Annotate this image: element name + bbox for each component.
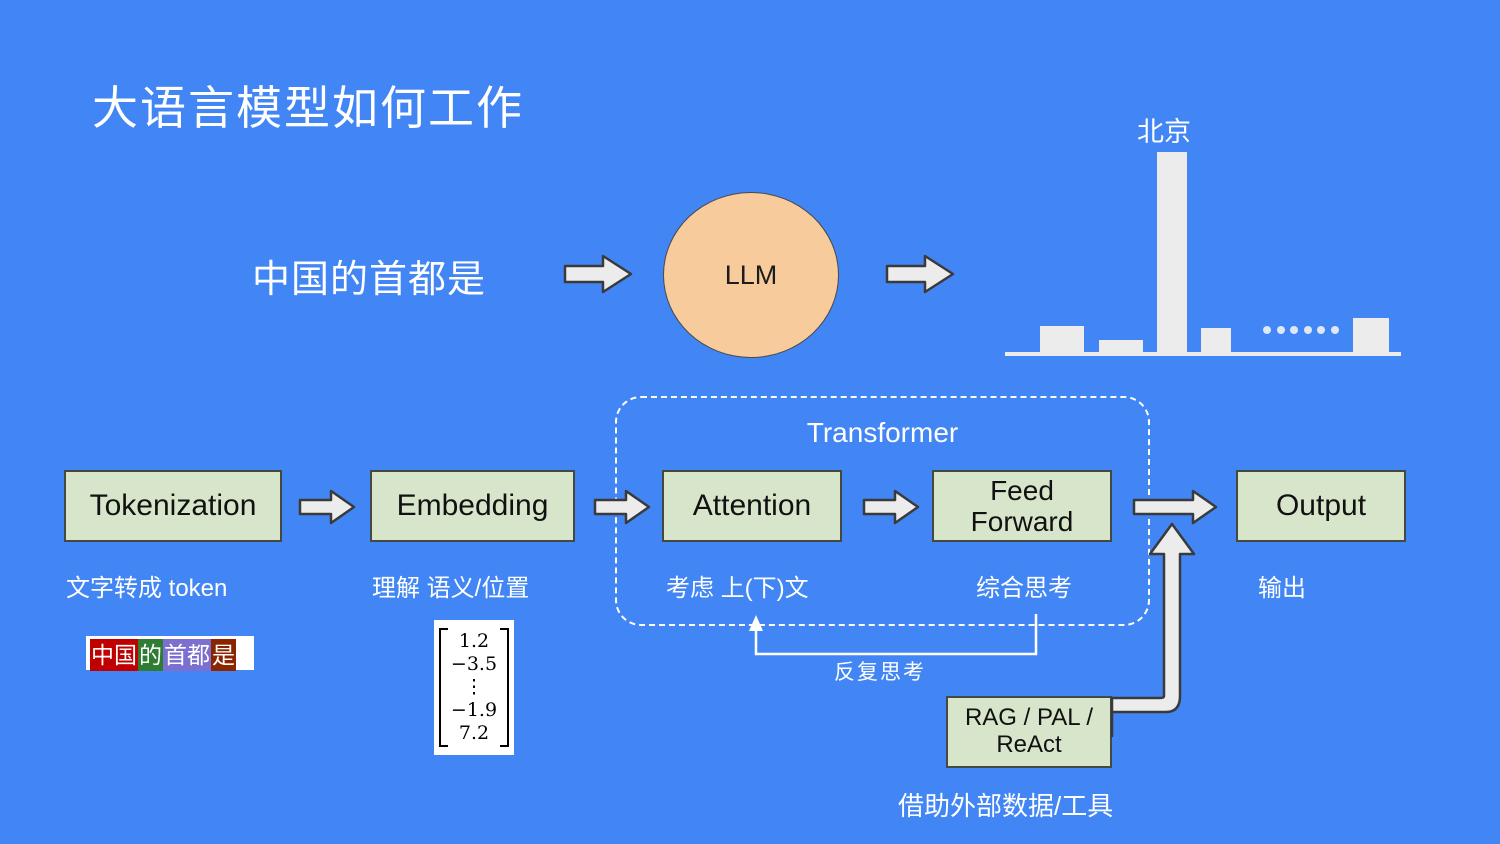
llm-label: LLM <box>725 260 778 291</box>
probability-distribution-chart: 北京 <box>1005 110 1405 360</box>
token-chip: 是 <box>211 639 236 671</box>
transformer-label: Transformer <box>615 417 1150 449</box>
vector-value: 1.2 <box>459 630 489 653</box>
step-label: Attention <box>693 489 811 523</box>
llm-node[interactable]: LLM <box>663 192 839 358</box>
tools-label-line1: RAG / PAL / <box>965 705 1093 732</box>
bracket-right-icon <box>500 628 509 748</box>
chart-bar <box>1099 340 1143 352</box>
vector-value: ⋮ <box>464 676 483 699</box>
token-chip: 中国 <box>90 639 138 671</box>
token-chip: 的 <box>138 639 163 671</box>
chart-bar-peak <box>1157 152 1187 352</box>
page-title: 大语言模型如何工作 <box>92 72 524 138</box>
token-strip: 中国 的 首都 是 <box>90 639 236 671</box>
vector-value: −1.9 <box>451 699 497 722</box>
embedding-vector-values: 1.2 −3.5 ⋮ −1.9 7.2 <box>448 628 500 748</box>
right-arrow-icon <box>885 252 955 296</box>
recurrence-loop-label: 反复思考 <box>834 656 926 686</box>
prompt-text: 中国的首都是 <box>252 248 486 303</box>
right-arrow-icon <box>563 252 633 296</box>
chart-bar <box>1040 326 1084 352</box>
caption-feed-forward: 综合思考 <box>976 568 1072 603</box>
slide-canvas: 大语言模型如何工作 中国的首都是 LLM 北京 Transformer Toke… <box>0 0 1500 844</box>
chart-ellipsis-icon <box>1263 326 1339 334</box>
chart-bar <box>1353 318 1389 352</box>
step-box-embedding[interactable]: Embedding <box>370 470 575 542</box>
step-label: Tokenization <box>90 489 257 523</box>
token-chip: 首都 <box>163 639 211 671</box>
step-box-tokenization[interactable]: Tokenization <box>64 470 282 542</box>
tools-label-line2: ReAct <box>965 732 1093 759</box>
step-label: Output <box>1276 489 1366 523</box>
caption-tokenization: 文字转成 token <box>66 568 227 603</box>
embedding-vector-matrix: 1.2 −3.5 ⋮ −1.9 7.2 <box>434 620 514 755</box>
chart-baseline-axis <box>1005 352 1401 356</box>
step-box-attention[interactable]: Attention <box>662 470 842 542</box>
tools-box-rag-pal-react[interactable]: RAG / PAL / ReAct <box>946 696 1112 768</box>
step-box-feed-forward[interactable]: Feed Forward <box>932 470 1112 542</box>
chart-peak-label: 北京 <box>1109 110 1219 149</box>
bracket-left-icon <box>439 628 448 748</box>
right-arrow-icon <box>298 488 356 526</box>
chart-bar <box>1201 328 1231 352</box>
caption-tools: 借助外部数据/工具 <box>898 786 1113 823</box>
vector-value: 7.2 <box>459 722 489 745</box>
vector-value: −3.5 <box>451 653 497 676</box>
caption-output: 输出 <box>1258 568 1306 603</box>
step-label: Embedding <box>397 489 549 523</box>
step-box-output[interactable]: Output <box>1236 470 1406 542</box>
caption-attention: 考虑 上(下)文 <box>666 568 809 603</box>
step-label-line1: Feed <box>971 475 1074 506</box>
step-label-line2: Forward <box>971 506 1074 537</box>
caption-embedding: 理解 语义/位置 <box>372 568 529 603</box>
